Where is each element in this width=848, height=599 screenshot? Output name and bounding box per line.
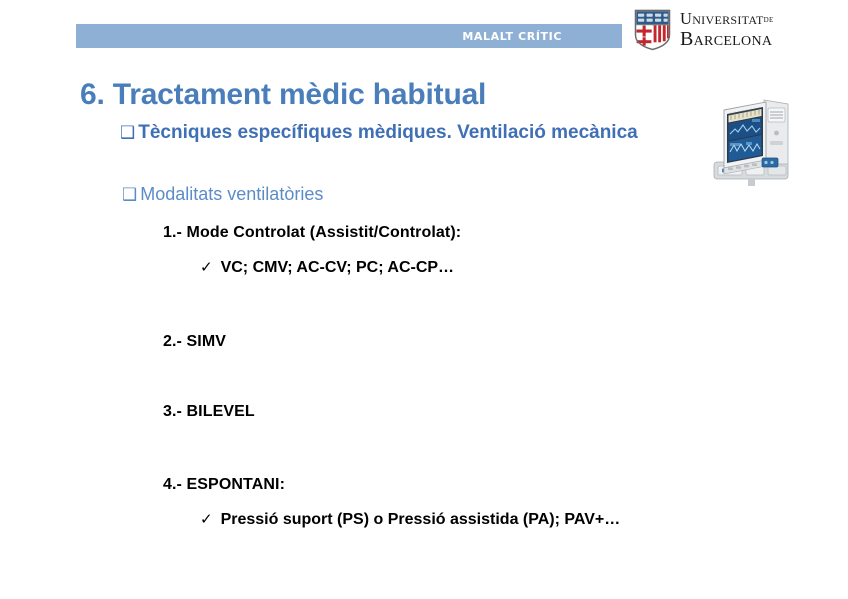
sub-item-label: Pressió suport (PS) o Pressió assistida … xyxy=(221,511,621,529)
bullet-label: Tècniques específiques mèdiques. Ventila… xyxy=(138,122,637,144)
sub-item-modes-controlats: ✓ VC; CMV; AC-CV; PC; AC-CP… xyxy=(200,258,454,277)
bullet-modalitats-ventilatories: ❑ Modalitats ventilatòries xyxy=(122,184,323,205)
square-bullet-icon: ❑ xyxy=(122,187,137,204)
list-item-bilevel: 3.- BILEVEL xyxy=(163,403,255,421)
list-item-simv: 2.- SIMV xyxy=(163,333,226,351)
check-icon: ✓ xyxy=(200,510,213,528)
list-item-espontani: 4.- ESPONTANI: xyxy=(163,476,285,494)
bullet-label: Modalitats ventilatòries xyxy=(140,184,323,205)
ventilator-image xyxy=(702,88,806,190)
bullet-tecniques-especifiques: ❑ Tècniques específiques mèdiques. Venti… xyxy=(120,122,638,144)
check-icon: ✓ xyxy=(200,258,213,276)
square-bullet-icon: ❑ xyxy=(120,125,135,142)
sub-item-label: VC; CMV; AC-CV; PC; AC-CP… xyxy=(221,259,454,277)
list-item-mode-controlat: 1.- Mode Controlat (Assistit/Controlat): xyxy=(163,224,461,242)
sub-item-pressio-suport: ✓ Pressió suport (PS) o Pressió assistid… xyxy=(200,510,620,529)
